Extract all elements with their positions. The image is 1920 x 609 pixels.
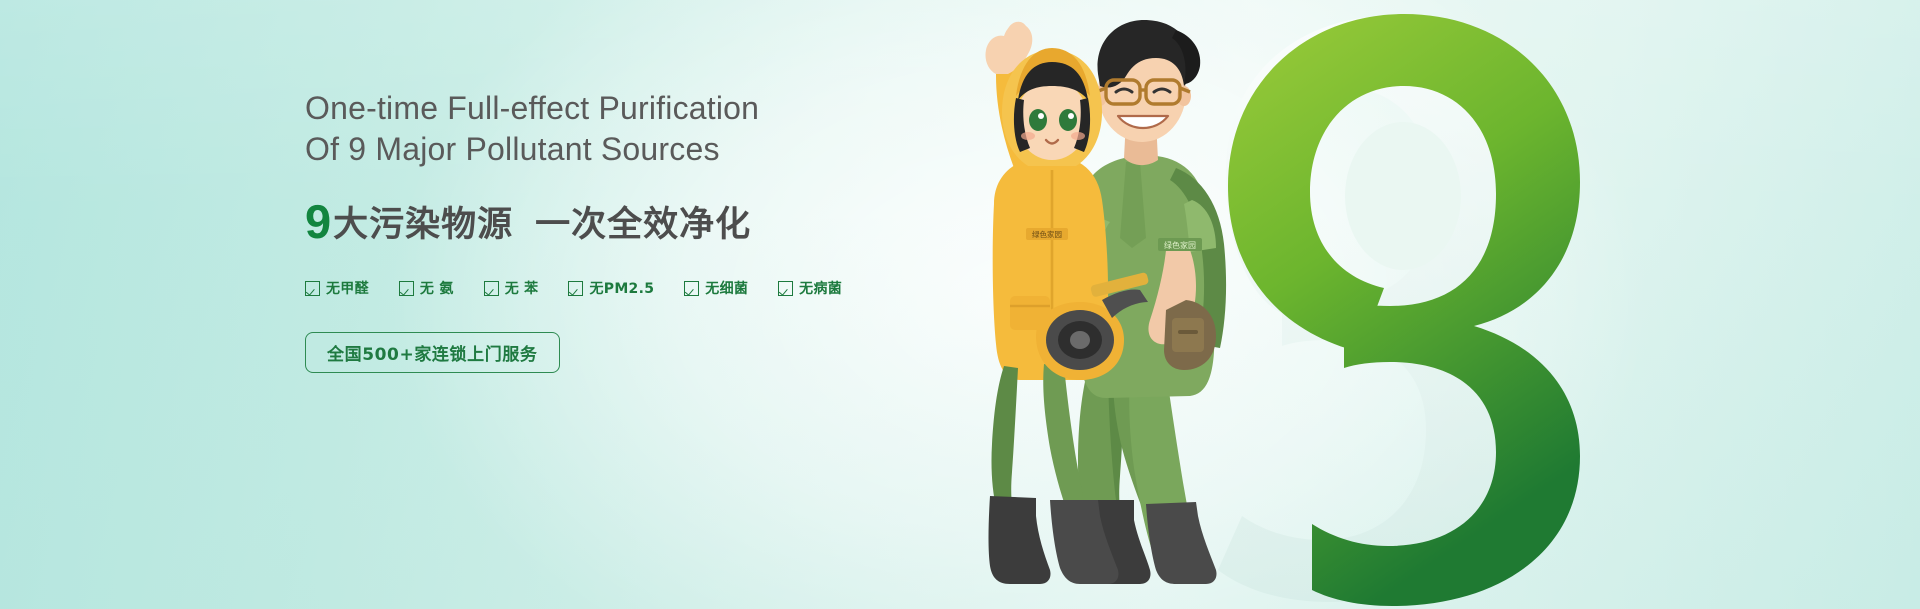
cta-button[interactable]: 全国500+家连锁上门服务: [305, 332, 560, 373]
promo-banner: 绿色家园: [0, 0, 1920, 609]
checkbox-checked-icon: [684, 281, 699, 296]
headline-number-nine: 9: [305, 198, 332, 245]
headline-english-line2: Of 9 Major Pollutant Sources: [305, 129, 1125, 170]
feature-item-1: 无 氨: [399, 278, 454, 298]
feature-label: 无 氨: [420, 278, 454, 298]
feature-item-5: 无病菌: [778, 278, 842, 298]
checkbox-checked-icon: [305, 281, 320, 296]
feature-item-2: 无 苯: [484, 278, 539, 298]
checkbox-checked-icon: [778, 281, 793, 296]
feature-item-3: 无PM2.5: [568, 278, 654, 298]
headline-chinese: 9 大污染物源 一次全效净化: [305, 196, 1125, 248]
feature-item-0: 无甲醛: [305, 278, 369, 298]
headline-english-line1: One-time Full-effect Purification: [305, 88, 1125, 129]
headline-chinese-part2: 一次全效净化: [535, 202, 751, 248]
feature-item-4: 无细菌: [684, 278, 748, 298]
feature-label: 无病菌: [799, 278, 842, 298]
feature-label: 无甲醛: [326, 278, 369, 298]
adult-badge-text: 绿色家园: [1164, 240, 1196, 250]
feature-checklist: 无甲醛 无 氨 无 苯 无PM2.5 无细菌 无病菌: [305, 278, 1125, 298]
banner-copy: One-time Full-effect Purification Of 9 M…: [305, 88, 1125, 373]
checkbox-checked-icon: [484, 281, 499, 296]
feature-label: 无PM2.5: [589, 278, 654, 298]
feature-label: 无 苯: [505, 278, 539, 298]
headline-chinese-part1: 大污染物源: [333, 202, 513, 248]
checkbox-checked-icon: [568, 281, 583, 296]
feature-label: 无细菌: [705, 278, 748, 298]
checkbox-checked-icon: [399, 281, 414, 296]
nine-counter-hole: [1345, 122, 1461, 270]
